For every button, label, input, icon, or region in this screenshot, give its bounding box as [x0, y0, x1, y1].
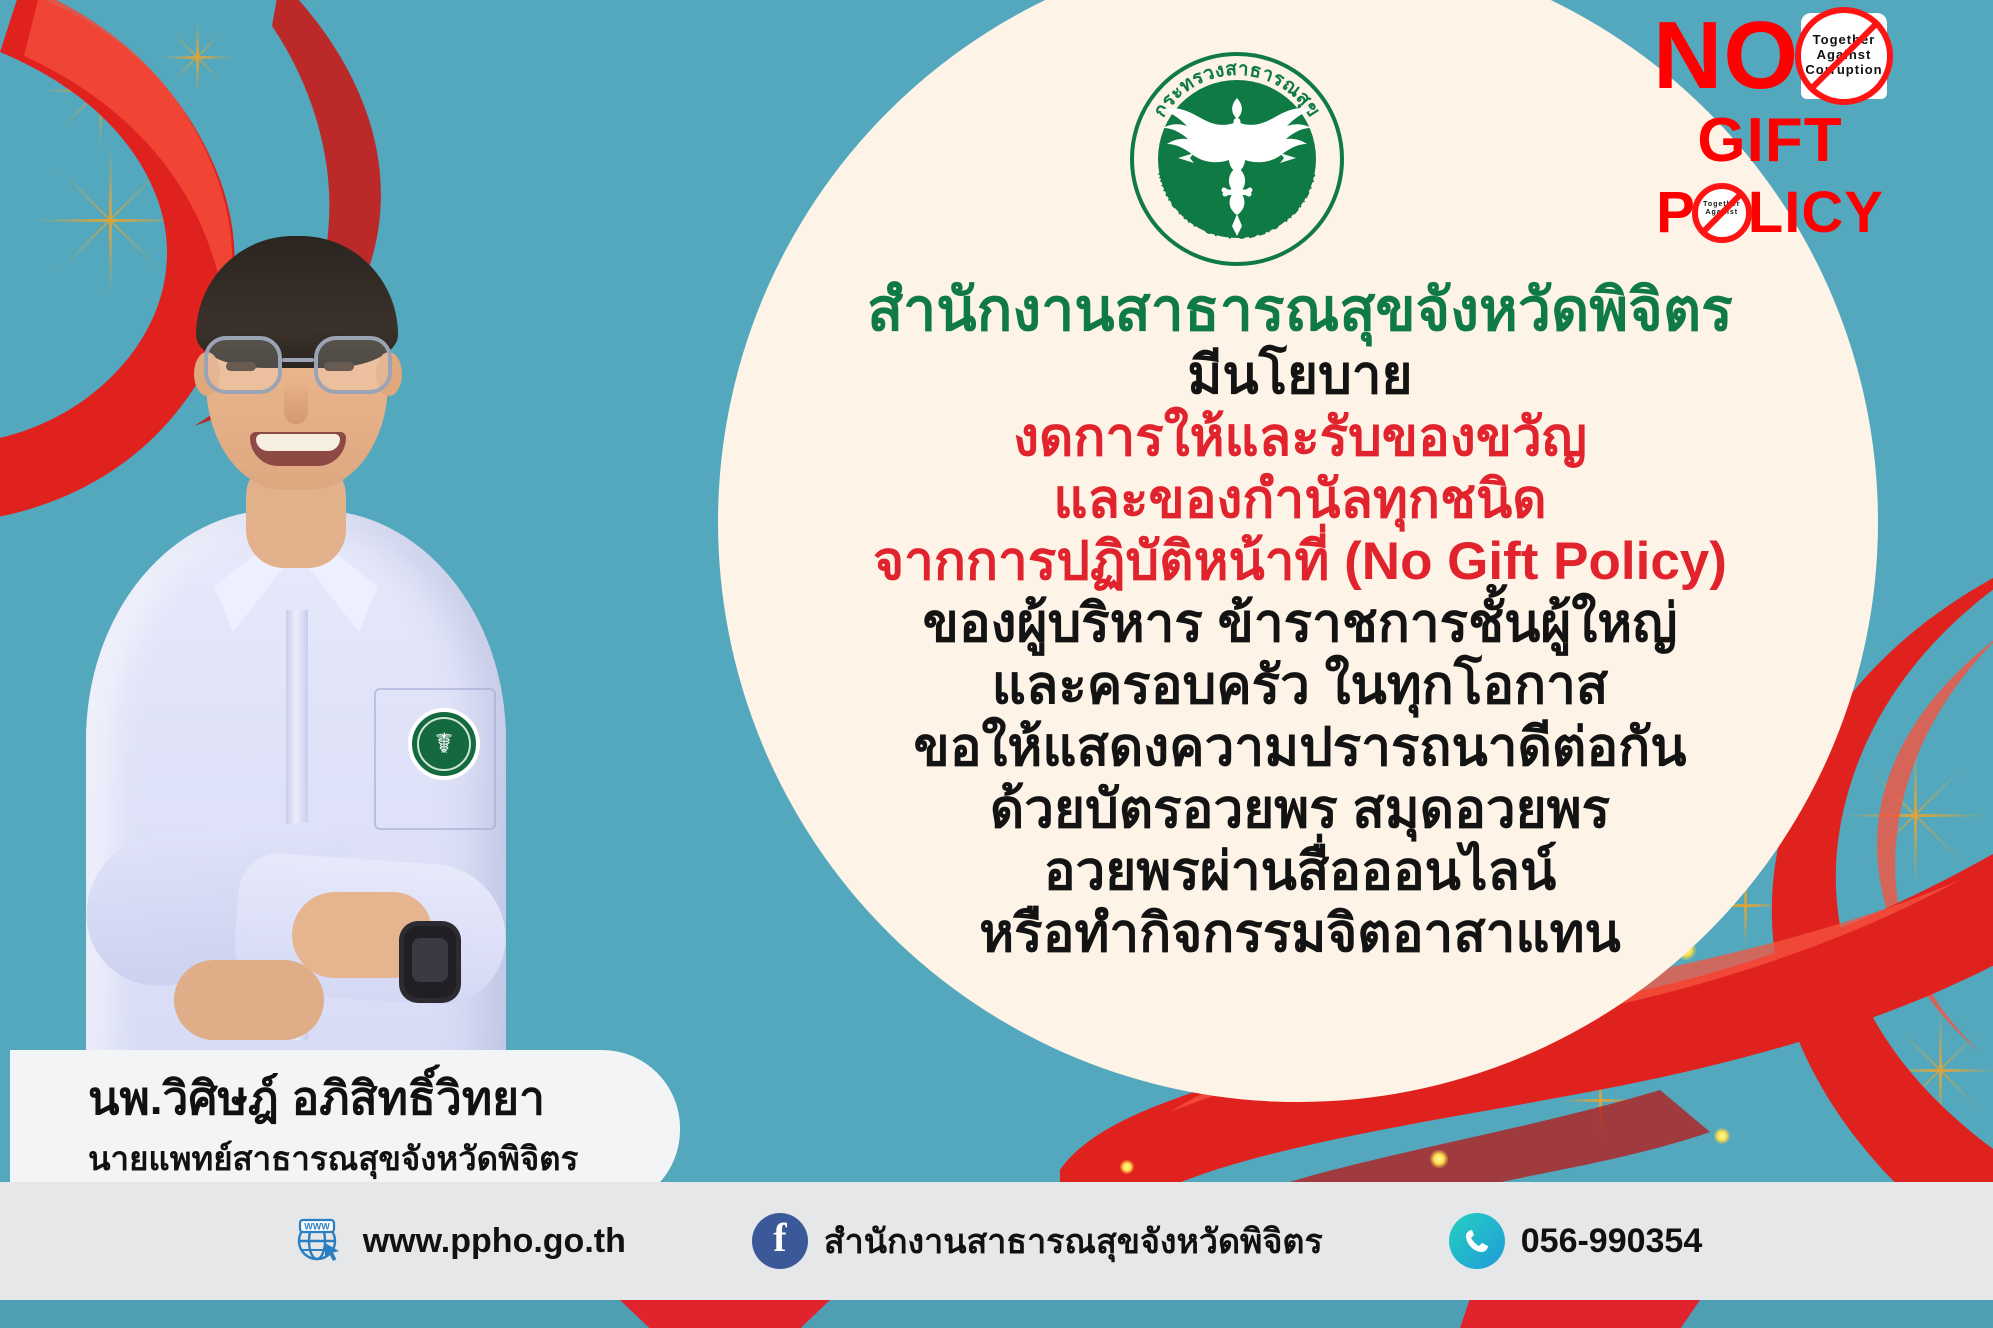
message-line-6: และครอบครัว ในทุกโอกาส [700, 655, 1900, 717]
prohibition-icon [1795, 7, 1893, 105]
no-gift-line3-suffix: LICY [1748, 184, 1884, 242]
person-name: นพ.วิศิษฎ์ อภิสิทธิ์วิทยา [88, 1073, 680, 1124]
shirt-moph-badge-icon: ☤ [408, 708, 480, 780]
contact-footer: WWW www.ppho.go.th f สำนักงานสาธารณสุขจั… [0, 1182, 1993, 1300]
ministry-of-public-health-emblem: กระทรวงสาธารณสุข MINISTRY OF PUBLIC HEAL… [1124, 46, 1350, 272]
no-gift-line1: NO [1653, 8, 1799, 104]
no-gift-policy-poster: กระทรวงสาธารณสุข MINISTRY OF PUBLIC HEAL… [0, 0, 1993, 1328]
message-line-0: สำนักงานสาธารณสุขจังหวัดพิจิตร [700, 276, 1900, 345]
phone-icon [1449, 1213, 1505, 1269]
message-line-3: และของกำนัลทุกชนิด [700, 469, 1900, 531]
facebook-icon: f [752, 1213, 808, 1269]
message-line-9: อวยพรผ่านสื่อออนไลน์ [700, 841, 1900, 903]
website-url: www.ppho.go.th [363, 1222, 626, 1261]
footer-website[interactable]: WWW www.ppho.go.th [291, 1213, 626, 1269]
no-gift-policy-badge: NO Together Against Corruption GIFT P To… [1605, 8, 1935, 242]
message-line-2: งดการให้และรับของขวัญ [700, 407, 1900, 469]
together-against-corruption-seal: Together Against Corruption [1801, 13, 1887, 99]
wristwatch-icon [404, 926, 456, 998]
message-line-1: มีนโยบาย [700, 345, 1900, 407]
message-line-10: หรือทำกิจกรรมจิตอาสาแทน [700, 903, 1900, 965]
prohibition-icon [1692, 183, 1752, 243]
message-line-7: ขอให้แสดงความปรารถนาดีต่อกัน [700, 717, 1900, 779]
red-accent-wedge [1460, 1300, 1700, 1328]
facebook-page-name: สำนักงานสาธารณสุขจังหวัดพิจิตร [824, 1214, 1323, 1268]
policy-message: สำนักงานสาธารณสุขจังหวัดพิจิตร มีนโยบาย … [700, 276, 1900, 965]
svg-text:WWW: WWW [304, 1222, 330, 1232]
phone-number: 056-990354 [1521, 1222, 1703, 1261]
footer-phone[interactable]: 056-990354 [1449, 1213, 1703, 1269]
message-line-4: จากการปฏิบัติหน้าที่ (No Gift Policy) [700, 531, 1900, 593]
no-gift-line3-prefix: P [1656, 184, 1696, 242]
no-gift-line2: GIFT [1605, 110, 1935, 172]
person-role: นายแพทย์สาธารณสุขจังหวัดพิจิตร [88, 1132, 680, 1185]
footer-facebook[interactable]: f สำนักงานสาธารณสุขจังหวัดพิจิตร [752, 1213, 1323, 1269]
message-line-8: ด้วยบัตรอวยพร สมุดอวยพร [700, 779, 1900, 841]
red-accent-wedge [620, 1300, 830, 1328]
bottom-strip [0, 1300, 1993, 1328]
message-line-5: ของผู้บริหาร ข้าราชการชั้นผู้ใหญ่ [700, 593, 1900, 655]
person-portrait: ☤ [86, 140, 506, 1140]
together-against-corruption-seal-small: Together Against [1698, 189, 1746, 237]
globe-www-icon: WWW [291, 1213, 347, 1269]
